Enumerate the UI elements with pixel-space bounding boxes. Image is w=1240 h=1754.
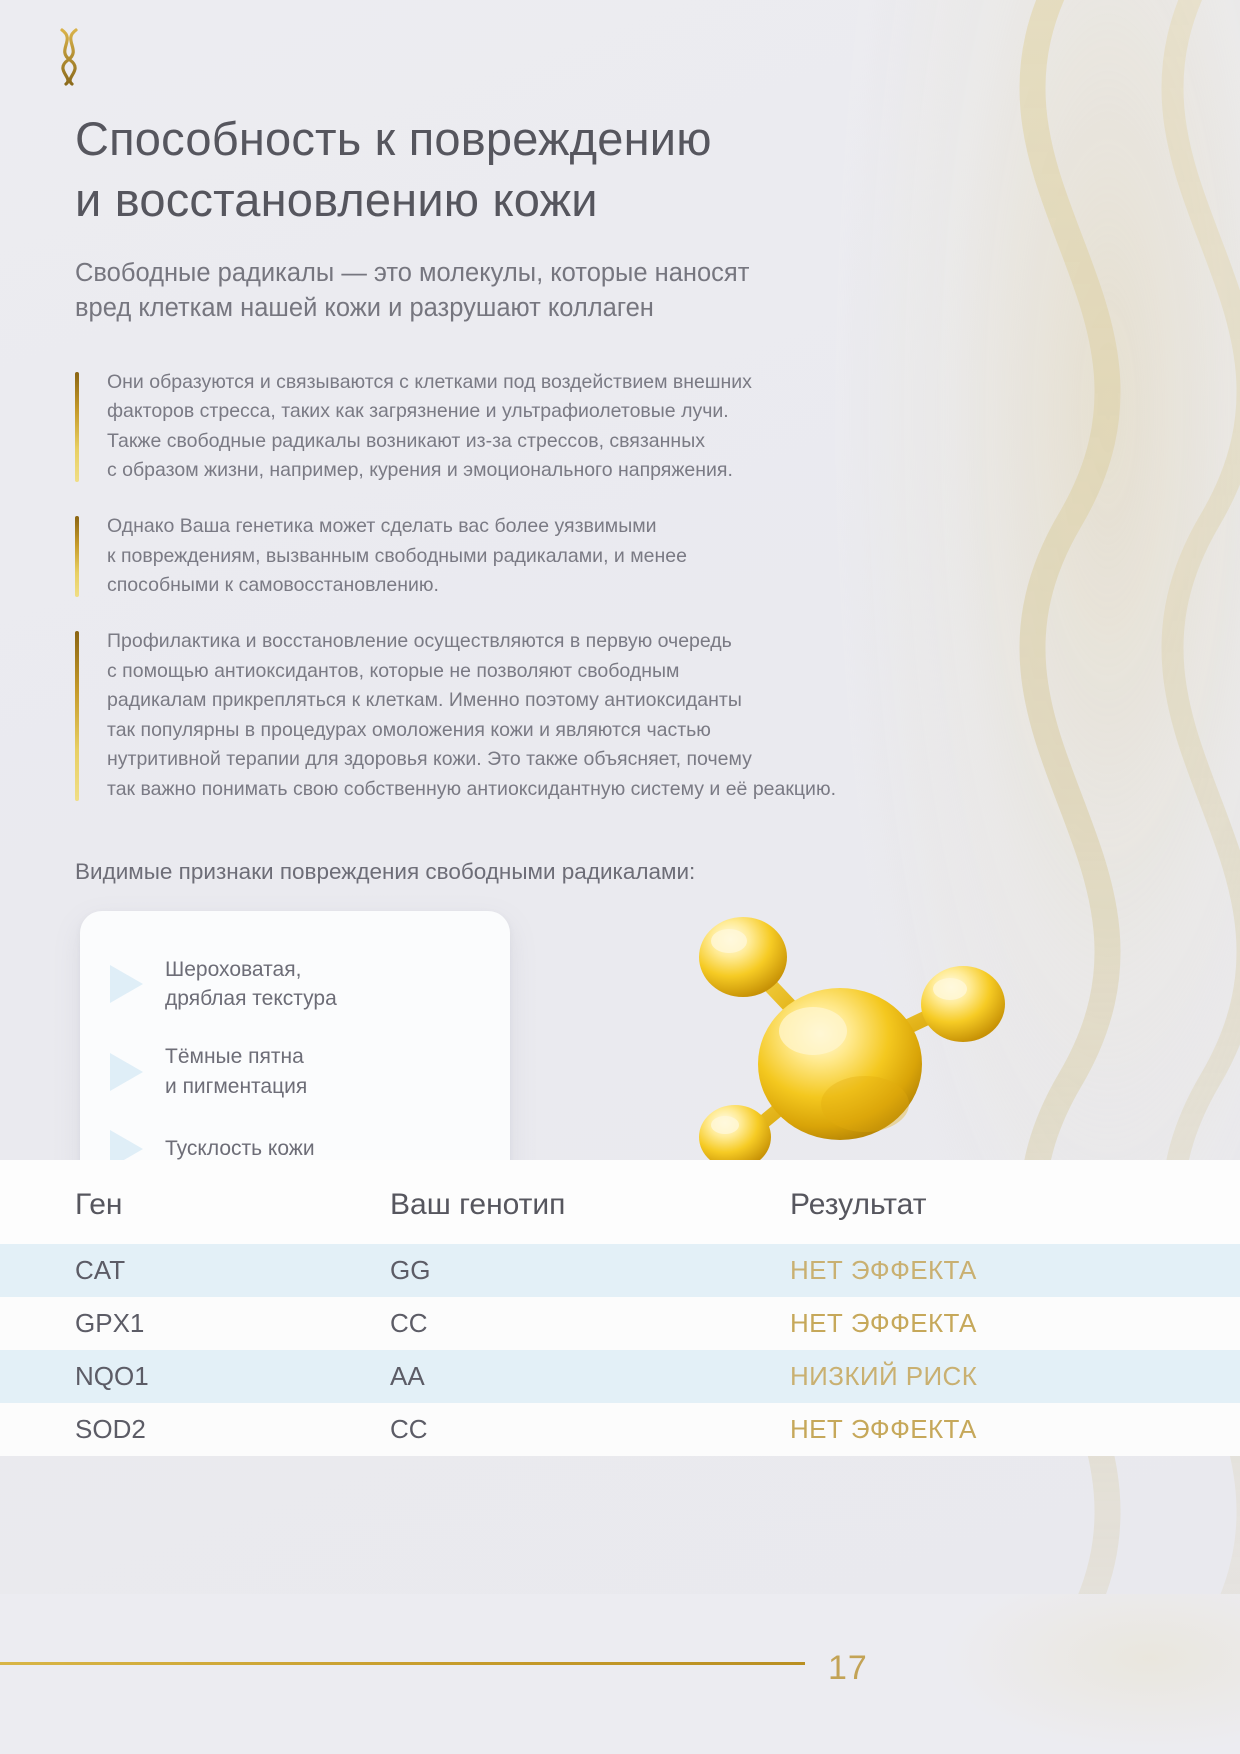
paragraph-line: так популярны в процедурах омоложения ко… (107, 716, 975, 746)
results-table: Ген Ваш генотип Результат CAT GG НЕТ ЭФФ… (0, 1160, 1240, 1456)
paragraph-text: Они образуются и связываются с клетками … (107, 368, 975, 487)
sign-label: Шероховатая, дряблая текстура (165, 955, 337, 1015)
page-title: Способность к повреждению и восстановлен… (75, 108, 975, 230)
cell-gene: GPX1 (75, 1308, 390, 1339)
cell-genotype: CC (390, 1308, 790, 1339)
paragraph-blocks: Они образуются и связываются с клетками … (75, 368, 975, 805)
page-footer: 17 (0, 1594, 1240, 1754)
cell-genotype: CC (390, 1414, 790, 1445)
gold-accent-bar (75, 516, 79, 597)
paragraph-line: с образом жизни, например, курения и эмо… (107, 456, 975, 486)
column-header-genotype: Ваш генотип (390, 1188, 790, 1222)
report-page: Способность к повреждению и восстановлен… (0, 0, 1240, 1754)
footer-gold-rule (0, 1662, 805, 1665)
paragraph-line: нутритивной терапии для здоровья кожи. Э… (107, 745, 975, 775)
sign-label: Тёмные пятна и пигментация (165, 1042, 307, 1102)
sign-label-line: Шероховатая, (165, 955, 337, 985)
paragraph-block: Они образуются и связываются с клетками … (75, 368, 975, 487)
visible-signs-card: Шероховатая, дряблая текстура Тёмные пят… (80, 911, 510, 1199)
cell-gene: CAT (75, 1255, 390, 1286)
cell-result: НИЗКИЙ РИСК (790, 1361, 1165, 1392)
paragraph-line: Также свободные радикалы возникают из-за… (107, 427, 975, 457)
sign-item: Тёмные пятна и пигментация (110, 1042, 480, 1102)
table-row: NQO1 AA НИЗКИЙ РИСК (0, 1350, 1240, 1403)
table-header-row: Ген Ваш генотип Результат (0, 1160, 1240, 1244)
cell-genotype: GG (390, 1255, 790, 1286)
cell-result: НЕТ ЭФФЕКТА (790, 1308, 1165, 1339)
sign-label-line: и пигментация (165, 1072, 307, 1102)
page-title-line-1: Способность к повреждению (75, 108, 975, 169)
cell-result: НЕТ ЭФФЕКТА (790, 1414, 1165, 1445)
page-title-line-2: и восстановлению кожи (75, 169, 975, 230)
column-header-gene: Ген (75, 1188, 390, 1222)
paragraph-line: Они образуются и связываются с клетками … (107, 368, 975, 398)
paragraph-block: Однако Ваша генетика может сделать вас б… (75, 512, 975, 601)
paragraph-line: с помощью антиоксидантов, которые не поз… (107, 657, 975, 687)
table-row: GPX1 CC НЕТ ЭФФЕКТА (0, 1297, 1240, 1350)
page-subtitle: Свободные радикалы — это молекулы, котор… (75, 256, 975, 325)
paragraph-line: Однако Ваша генетика может сделать вас б… (107, 512, 975, 542)
sign-label-line: Тёмные пятна (165, 1042, 307, 1072)
paragraph-text: Однако Ваша генетика может сделать вас б… (107, 512, 975, 601)
paragraph-line: способными к самовосстановлению. (107, 571, 975, 601)
sign-item: Шероховатая, дряблая текстура (110, 955, 480, 1015)
table-row: SOD2 CC НЕТ ЭФФЕКТА (0, 1403, 1240, 1456)
paragraph-line: так важно понимать свою собственную анти… (107, 775, 975, 805)
triangle-bullet-icon (110, 965, 143, 1003)
paragraph-text: Профилактика и восстановление осуществля… (107, 627, 975, 805)
table-row: CAT GG НЕТ ЭФФЕКТА (0, 1244, 1240, 1297)
cell-genotype: AA (390, 1361, 790, 1392)
column-header-result: Результат (790, 1188, 1165, 1222)
page-subtitle-line-1: Свободные радикалы — это молекулы, котор… (75, 256, 975, 291)
cell-result: НЕТ ЭФФЕКТА (790, 1255, 1165, 1286)
cell-gene: NQO1 (75, 1361, 390, 1392)
paragraph-block: Профилактика и восстановление осуществля… (75, 627, 975, 805)
triangle-bullet-icon (110, 1053, 143, 1091)
cell-gene: SOD2 (75, 1414, 390, 1445)
paragraph-line: Профилактика и восстановление осуществля… (107, 627, 975, 657)
paragraph-line: радикалам прикрепляться к клеткам. Именн… (107, 686, 975, 716)
gold-accent-bar (75, 372, 79, 483)
page-number: 17 (828, 1649, 868, 1688)
sign-label-line: дряблая текстура (165, 984, 337, 1014)
page-subtitle-line-2: вред клеткам нашей кожи и разрушают колл… (75, 291, 975, 326)
paragraph-line: к повреждениям, вызванным свободными рад… (107, 542, 975, 572)
gold-accent-bar (75, 631, 79, 801)
paragraph-line: факторов стресса, таких как загрязнение … (107, 397, 975, 427)
